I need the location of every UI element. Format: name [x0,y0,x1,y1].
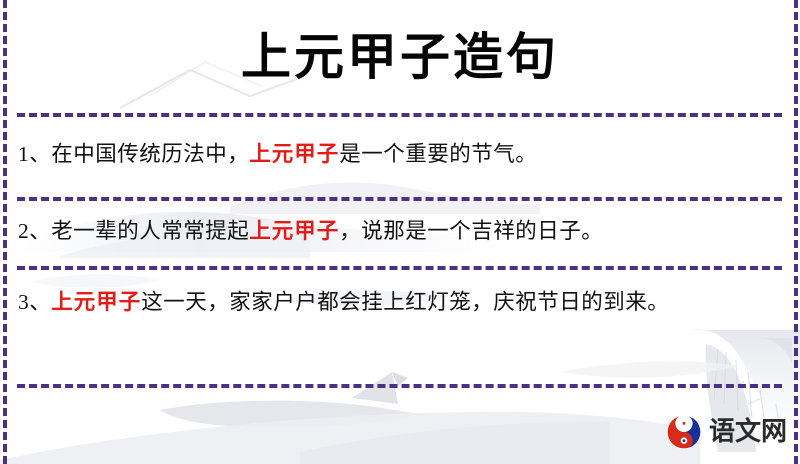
sentence-item-2: 2、老一辈的人常常提起上元甲子，说那是一个吉祥的日子。 [0,197,800,266]
sentence-1-after: 是一个重要的节气。 [339,142,537,166]
sentence-1-number: 1、 [18,142,51,166]
sentence-3-after: 这一天，家家户户都会挂上红灯笼，庆祝节日的到来。 [141,290,669,314]
sentence-2-before: 老一辈的人常常提起 [51,219,249,243]
yinyang-icon [666,414,702,450]
sentence-1-keyword: 上元甲子 [249,142,339,166]
sentence-2-after: ，说那是一个吉祥的日子。 [339,219,603,243]
sentence-3-number: 3、 [18,290,51,314]
dashed-separator-4 [17,384,782,388]
sentence-2-number: 2、 [18,219,51,243]
sentence-2-keyword: 上元甲子 [249,219,339,243]
site-logo: 语文网 [666,412,788,452]
logo-wordmark: 语文网 [709,417,787,447]
sentence-1-before: 在中国传统历法中， [51,142,249,166]
page-title: 上元甲子造句 [0,16,800,98]
sentence-item-1: 1、在中国传统历法中，上元甲子是一个重要的节气。 [0,113,800,197]
sentence-worksheet-page: 上元甲子造句 1、在中国传统历法中，上元甲子是一个重要的节气。 2、老一辈的人常… [0,0,800,464]
sentence-item-3: 3、上元甲子这一天，家家户户都会挂上红灯笼，庆祝节日的到来。 [0,266,800,384]
sentence-3-keyword: 上元甲子 [51,290,141,314]
sentence-list: 1、在中国传统历法中，上元甲子是一个重要的节气。 2、老一辈的人常常提起上元甲子… [0,113,800,384]
